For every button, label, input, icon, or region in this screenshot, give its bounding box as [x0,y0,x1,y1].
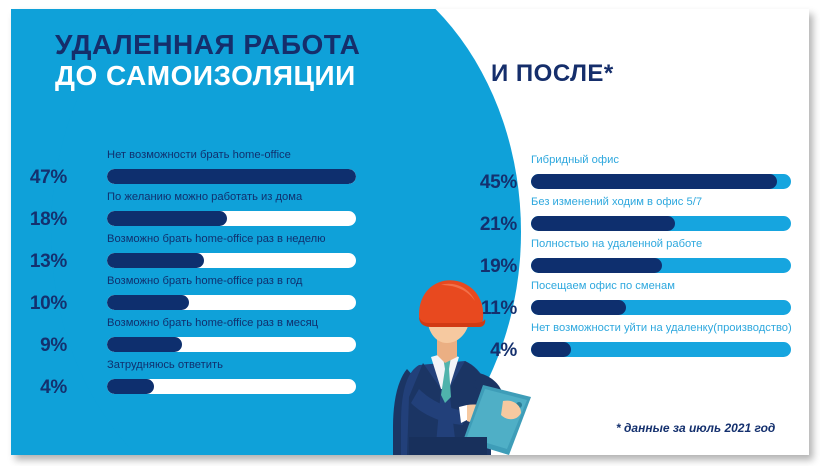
bar-track [107,295,356,310]
bar-label: Возможно брать home-office раз в год [107,275,302,287]
bar-value: 47% [19,167,67,189]
infographic-card: УДАЛЕННАЯ РАБОТА ДО САМОИЗОЛЯЦИИ И ПОСЛЕ… [11,9,809,455]
bar-fill [531,258,662,273]
bar-track [107,211,356,226]
bar-track [107,337,356,352]
bar-label: Без изменений ходим в офис 5/7 [531,196,702,208]
bar-label: Нет возможности уйти на удаленку(произво… [531,322,792,334]
bar-fill [107,295,189,310]
bar-value: 9% [19,335,67,357]
bar-label: Полностью на удаленной работе [531,238,702,250]
bar-value: 13% [19,251,67,273]
bar-value: 45% [469,172,517,194]
footnote: * данные за июль 2021 год [616,421,775,435]
page-title: УДАЛЕННАЯ РАБОТА ДО САМОИЗОЛЯЦИИ [55,29,360,92]
bar-track [531,216,791,231]
bar-label: Возможно брать home-office раз в месяц [107,317,318,329]
bar-track [531,258,791,273]
bar-track [107,379,356,394]
bar-fill [531,174,777,189]
bar-value: 19% [469,256,517,278]
bar-value: 18% [19,209,67,231]
bar-track [531,174,791,189]
bar-value: 10% [19,293,67,315]
bar-track [531,300,791,315]
title-right: И ПОСЛЕ* [491,60,614,88]
bar-fill [107,337,182,352]
title-line-2: ДО САМОИЗОЛЯЦИИ [55,60,360,91]
bar-track [107,169,356,184]
bar-fill [107,253,204,268]
bar-label: Затрудняюсь ответить [107,359,223,371]
bar-label: Нет возможности брать home-office [107,149,291,161]
bar-label: По желанию можно работать из дома [107,191,302,203]
bar-track [107,253,356,268]
bar-fill [531,216,675,231]
bar-value: 4% [19,377,67,399]
bar-fill [107,211,227,226]
bar-value: 21% [469,214,517,236]
bar-fill [107,169,356,184]
bar-label: Гибридный офис [531,154,619,166]
bar-track [531,342,791,357]
worker-illustration [379,277,559,455]
infographic-stage: УДАЛЕННАЯ РАБОТА ДО САМОИЗОЛЯЦИИ И ПОСЛЕ… [0,0,820,466]
bar-label: Возможно брать home-office раз в неделю [107,233,326,245]
title-line-1: УДАЛЕННАЯ РАБОТА [55,29,360,60]
bar-fill [107,379,154,394]
